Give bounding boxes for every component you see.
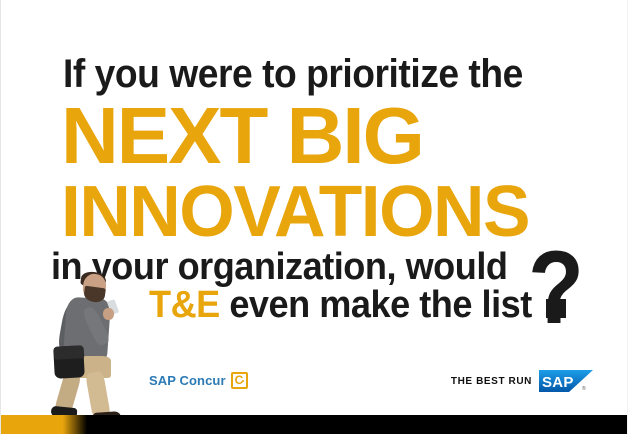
- headline-line-5-rest: even make the list: [220, 284, 532, 326]
- sap-concur-logo[interactable]: SAP Concur C: [149, 372, 248, 389]
- footer-bar-yellow-accent: [1, 415, 87, 434]
- best-run-tagline: THE BEST RUN: [451, 376, 532, 387]
- footer-bar: [1, 415, 628, 434]
- person-hand: [103, 308, 114, 320]
- concur-c-mark-icon: C: [231, 372, 248, 389]
- svg-text:SAP: SAP: [542, 374, 574, 391]
- headline-line-3-innovations: INNOVATIONS: [61, 176, 529, 248]
- walking-person-photo: [27, 272, 149, 420]
- headline-line-2-next-big: NEXT BIG: [61, 96, 423, 176]
- svg-text:®: ®: [582, 385, 586, 392]
- sap-logo-icon: SAP ®: [539, 370, 593, 392]
- poster-canvas: If you were to prioritize the NEXT BIG I…: [0, 0, 628, 434]
- messenger-bag-flap: [54, 345, 85, 360]
- sap-concur-wordmark: SAP Concur: [149, 373, 226, 388]
- question-mark-glyph: ?: [528, 236, 584, 340]
- period-square-glyph: [546, 299, 566, 318]
- concur-dot: [242, 380, 244, 382]
- headline-te-highlight: T&E: [149, 284, 220, 326]
- sap-tagline-block[interactable]: THE BEST RUN SAP ®: [451, 370, 593, 392]
- headline-line-5: T&E even make the list: [149, 286, 532, 324]
- headline-line-1: If you were to prioritize the: [63, 54, 523, 94]
